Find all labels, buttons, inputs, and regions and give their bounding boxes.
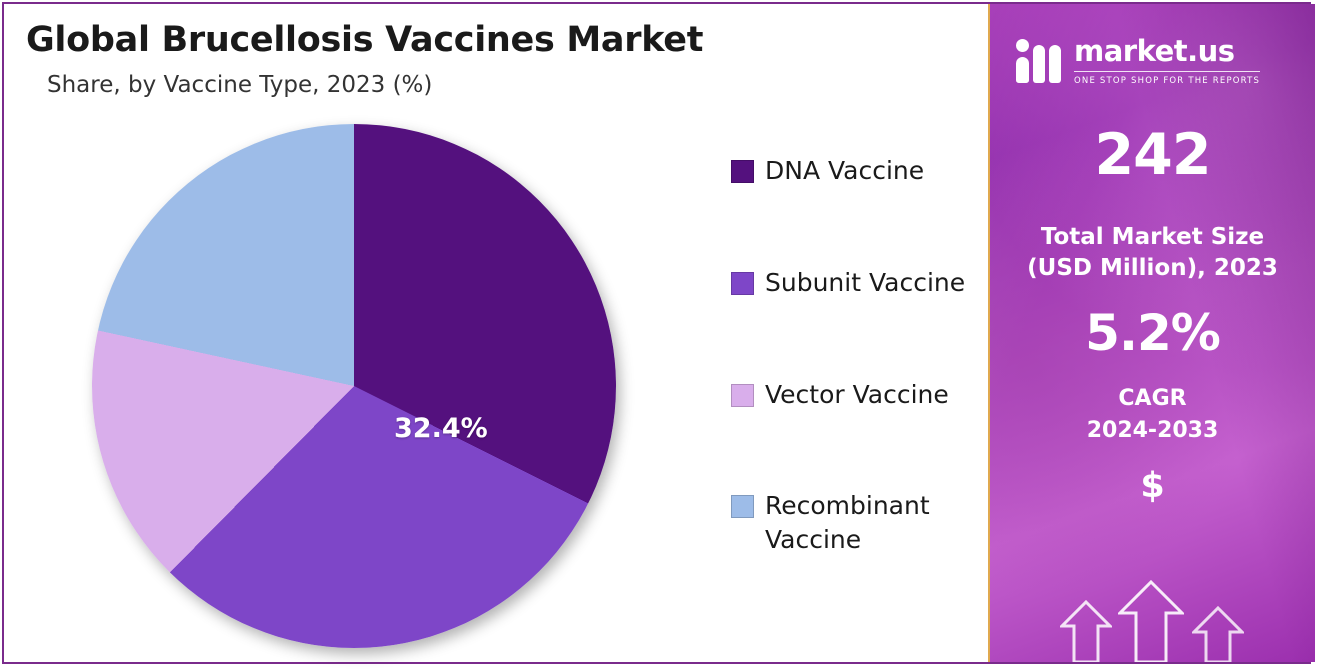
market-size-value: 242 <box>990 122 1315 188</box>
brand-text: market.us ONE STOP SHOP FOR THE REPORTS <box>1074 37 1260 86</box>
cagr-caption-line2: 2024-2033 <box>990 415 1315 447</box>
cagr-caption-line1: CAGR <box>990 383 1315 415</box>
pie-disc <box>92 124 616 648</box>
legend-label: Vector Vaccine <box>765 378 949 412</box>
legend-item-dna-vaccine[interactable]: DNA Vaccine <box>731 154 981 188</box>
legend-item-subunit-vaccine[interactable]: Subunit Vaccine <box>731 266 981 300</box>
market-size-caption: Total Market Size (USD Million), 2023 <box>990 222 1315 284</box>
legend-label: Recombinant Vaccine <box>765 489 970 557</box>
market-size-caption-line2: (USD Million), 2023 <box>990 253 1315 284</box>
brand-name: market.us <box>1074 37 1260 66</box>
market-size-caption-line1: Total Market Size <box>990 222 1315 253</box>
chart-panel: Global Brucellosis Vaccines Market Share… <box>4 4 987 662</box>
page-title: Global Brucellosis Vaccines Market <box>26 20 703 60</box>
dollar-symbol-icon: $ <box>990 466 1315 506</box>
stats-panel: market.us ONE STOP SHOP FOR THE REPORTS … <box>988 4 1315 662</box>
pie-chart: 32.4% <box>92 124 620 652</box>
legend-swatch-icon <box>731 160 754 183</box>
cagr-caption: CAGR 2024-2033 <box>990 383 1315 447</box>
legend-swatch-icon <box>731 495 754 518</box>
legend-item-vector-vaccine[interactable]: Vector Vaccine <box>731 378 981 412</box>
upward-arrows-icon <box>1060 582 1260 662</box>
chart-legend: DNA Vaccine Subunit Vaccine Vector Vacci… <box>731 154 981 635</box>
legend-swatch-icon <box>731 272 754 295</box>
legend-swatch-icon <box>731 384 754 407</box>
market-us-logo-icon <box>1016 39 1062 83</box>
infographic-frame: Global Brucellosis Vaccines Market Share… <box>2 2 1311 664</box>
chart-subtitle: Share, by Vaccine Type, 2023 (%) <box>47 72 432 98</box>
legend-label: DNA Vaccine <box>765 154 924 188</box>
cagr-value: 5.2% <box>990 304 1315 362</box>
brand-tagline: ONE STOP SHOP FOR THE REPORTS <box>1074 71 1260 86</box>
legend-label: Subunit Vaccine <box>765 266 965 300</box>
brand-logo: market.us ONE STOP SHOP FOR THE REPORTS <box>1016 34 1292 88</box>
pie-slice-label-dna: 32.4% <box>394 413 488 444</box>
legend-item-recombinant-vaccine[interactable]: Recombinant Vaccine <box>731 489 981 557</box>
